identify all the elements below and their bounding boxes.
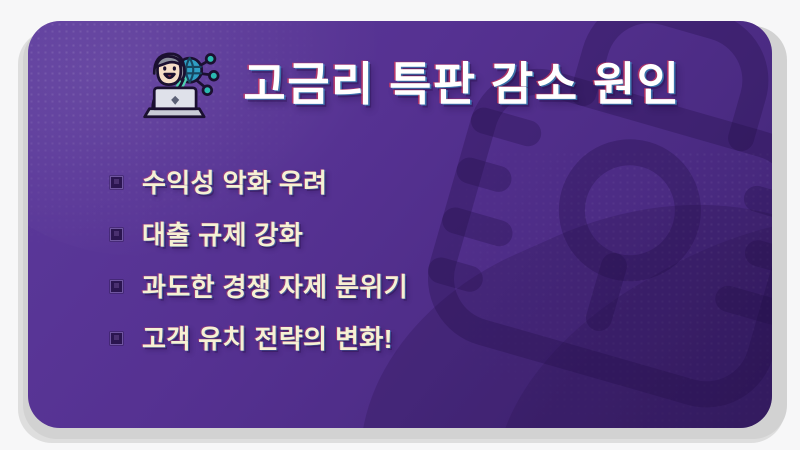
square-bullet-icon: [110, 228, 123, 241]
list-item: 대출 규제 강화: [110, 207, 710, 259]
page-title: 고금리 특판 감소 원인: [243, 48, 680, 114]
square-bullet-icon: [110, 176, 123, 189]
content-card: 고금리 특판 감소 원인 수익성 악화 우려 대출 규제 강화 과도한 경쟁 자…: [28, 21, 772, 428]
list-item-label: 대출 규제 강화: [142, 215, 303, 252]
list-item-label: 고객 유치 전략의 변화!: [142, 319, 393, 356]
list-item-label: 과도한 경쟁 자제 분위기: [142, 267, 408, 304]
slide-canvas: 고금리 특판 감소 원인 수익성 악화 우려 대출 규제 강화 과도한 경쟁 자…: [0, 0, 800, 450]
square-bullet-icon: [110, 332, 123, 345]
person-with-laptop-and-network-icon: [139, 46, 221, 120]
card-header: 고금리 특판 감소 원인: [28, 21, 772, 141]
square-bullet-icon: [110, 280, 123, 293]
list-item: 고객 유치 전략의 변화!: [110, 311, 710, 363]
list-item-label: 수익성 악화 우려: [142, 163, 328, 200]
list-item: 수익성 악화 우려: [110, 155, 710, 207]
bullet-list: 수익성 악화 우려 대출 규제 강화 과도한 경쟁 자제 분위기 고객 유치 전…: [110, 155, 710, 363]
list-item: 과도한 경쟁 자제 분위기: [110, 259, 710, 311]
